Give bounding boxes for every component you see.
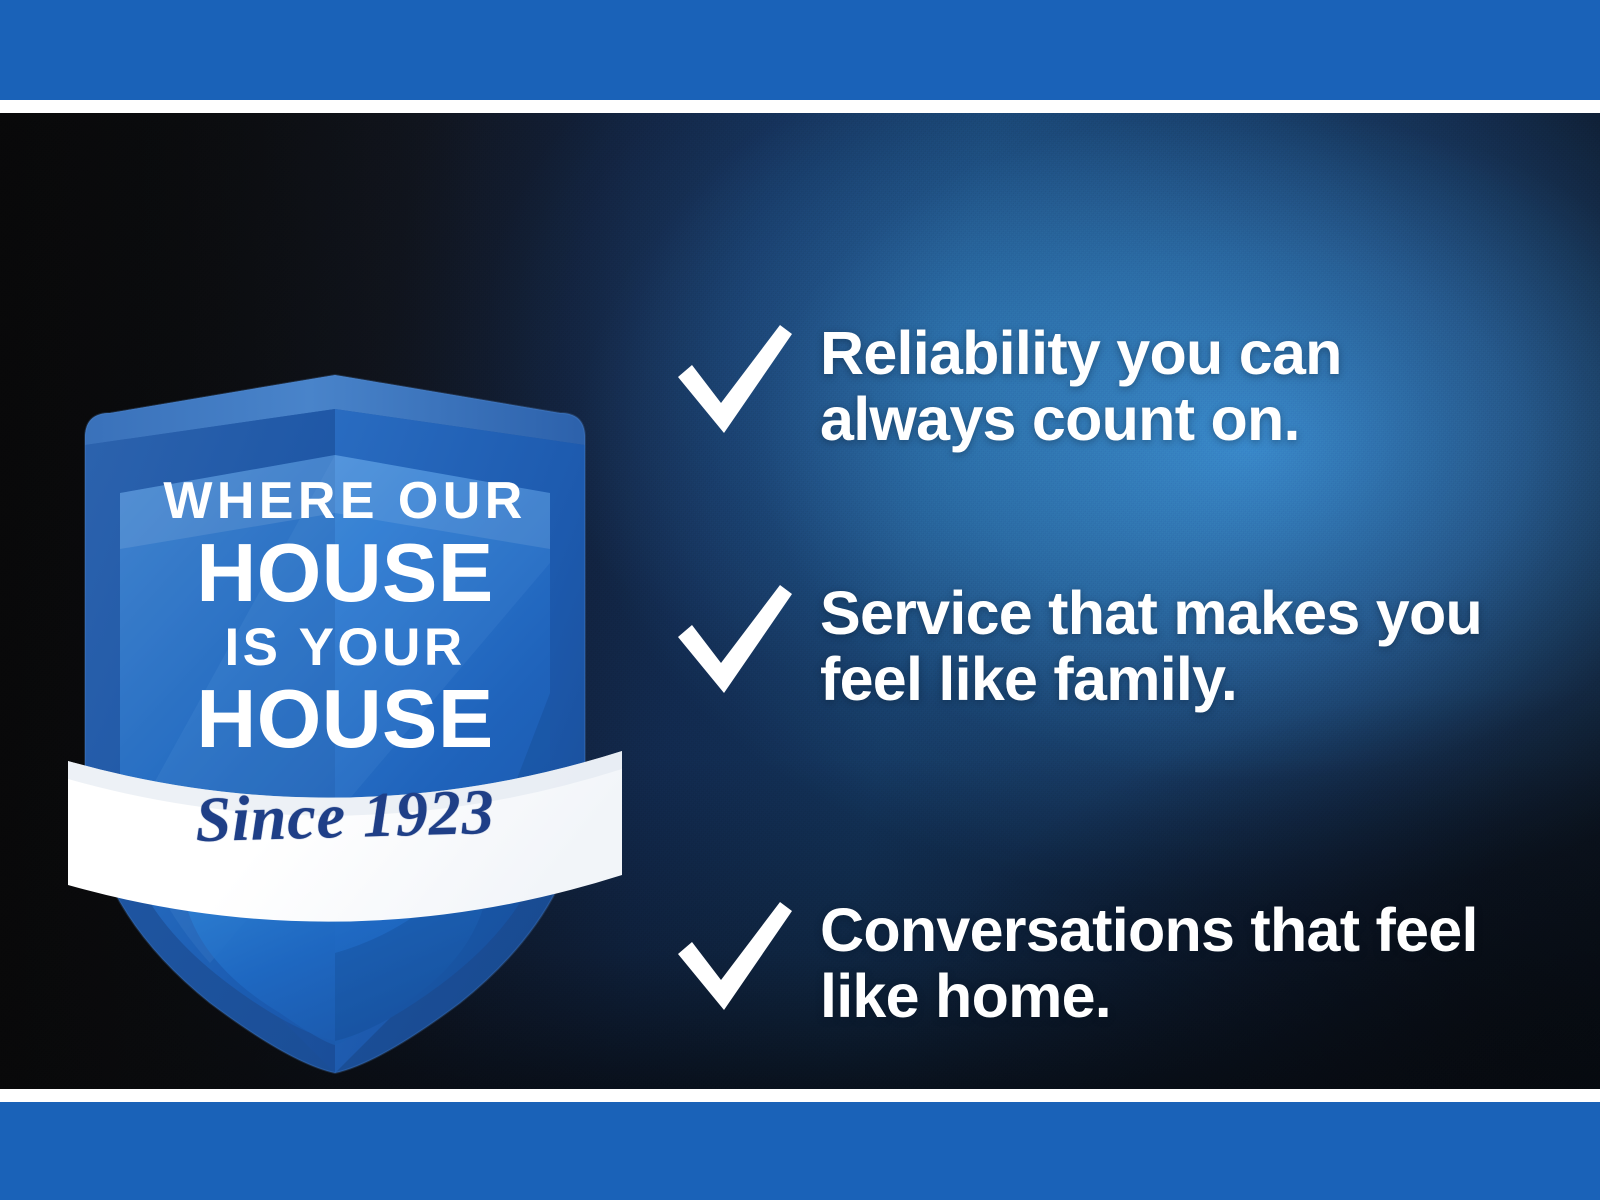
shield-body (85, 375, 585, 1073)
benefit-text: Service that makes you feel like family. (820, 581, 1520, 713)
checkmark-icon (672, 583, 794, 699)
checkmark-icon (672, 323, 794, 439)
benefit-text: Reliability you can always count on. (820, 321, 1520, 453)
bottom-white-divider (0, 1089, 1600, 1102)
top-brand-bar (0, 0, 1600, 100)
benefit-item: Reliability you can always count on. (672, 321, 1532, 453)
main-stage: WHERE OUR HOUSE IS YOUR HOUSE Since 1923… (0, 113, 1600, 1089)
benefit-item: Conversations that feel like home. (672, 898, 1532, 1030)
checkmark-icon (672, 900, 794, 1016)
top-white-divider (0, 100, 1600, 113)
benefit-item: Service that makes you feel like family. (672, 581, 1532, 713)
benefits-list: Reliability you can always count on. Ser… (672, 226, 1532, 1089)
benefit-text: Conversations that feel like home. (820, 898, 1520, 1030)
promo-graphic: WHERE OUR HOUSE IS YOUR HOUSE Since 1923… (0, 0, 1600, 1200)
shield-badge: WHERE OUR HOUSE IS YOUR HOUSE Since 1923 (60, 263, 630, 1073)
bottom-brand-bar (0, 1102, 1600, 1200)
